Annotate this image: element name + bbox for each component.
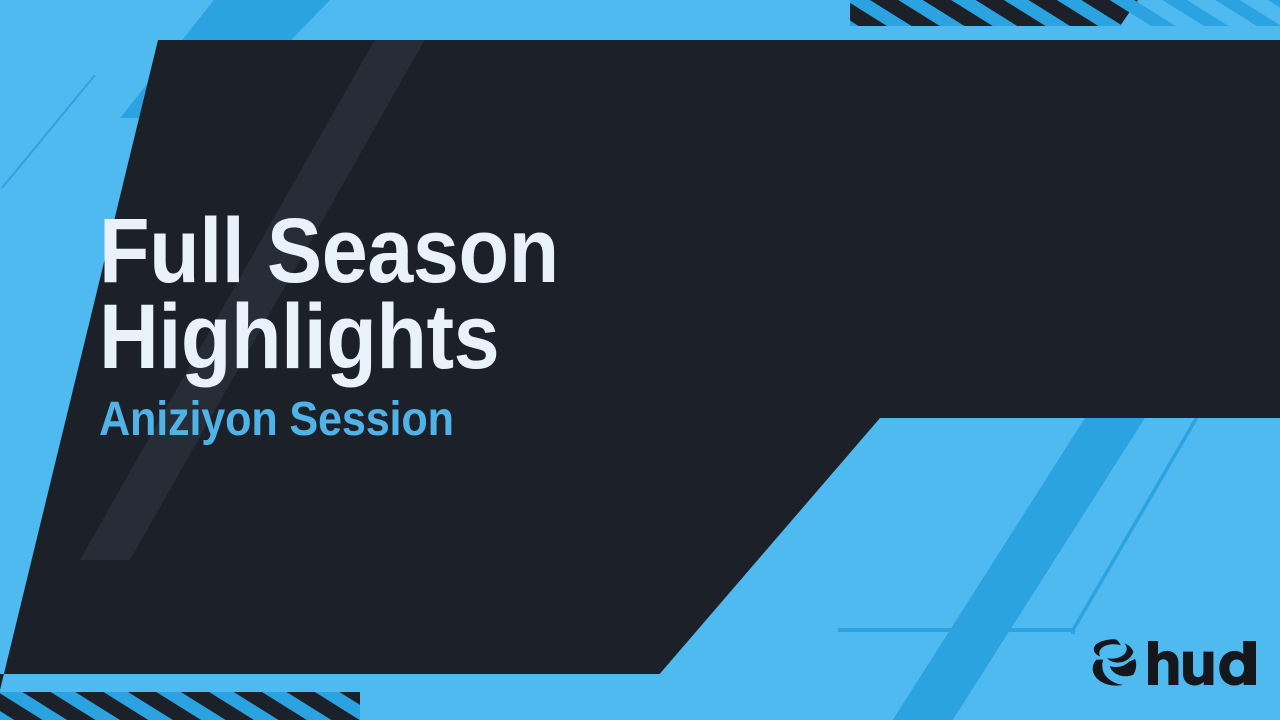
hudl-logo	[1088, 637, 1256, 689]
page-title-line-2: Highlights	[99, 292, 837, 382]
hudl-wordmark	[1148, 641, 1256, 686]
highlight-title-slide: Full Season Highlights Aniziyon Session	[0, 0, 1280, 720]
hudl-logo-mark-and-wordmark	[1088, 637, 1256, 689]
top-right-stripes-light	[1120, 0, 1280, 26]
horizontal-rule	[838, 628, 1075, 632]
page-subtitle: Aniziyon Session	[99, 396, 837, 444]
title-block: Full Season Highlights Aniziyon Session	[99, 206, 919, 444]
bottom-left-stripes	[0, 692, 360, 720]
page-title-line-1: Full Season	[99, 206, 837, 296]
hudl-shield-icon	[1093, 639, 1137, 685]
